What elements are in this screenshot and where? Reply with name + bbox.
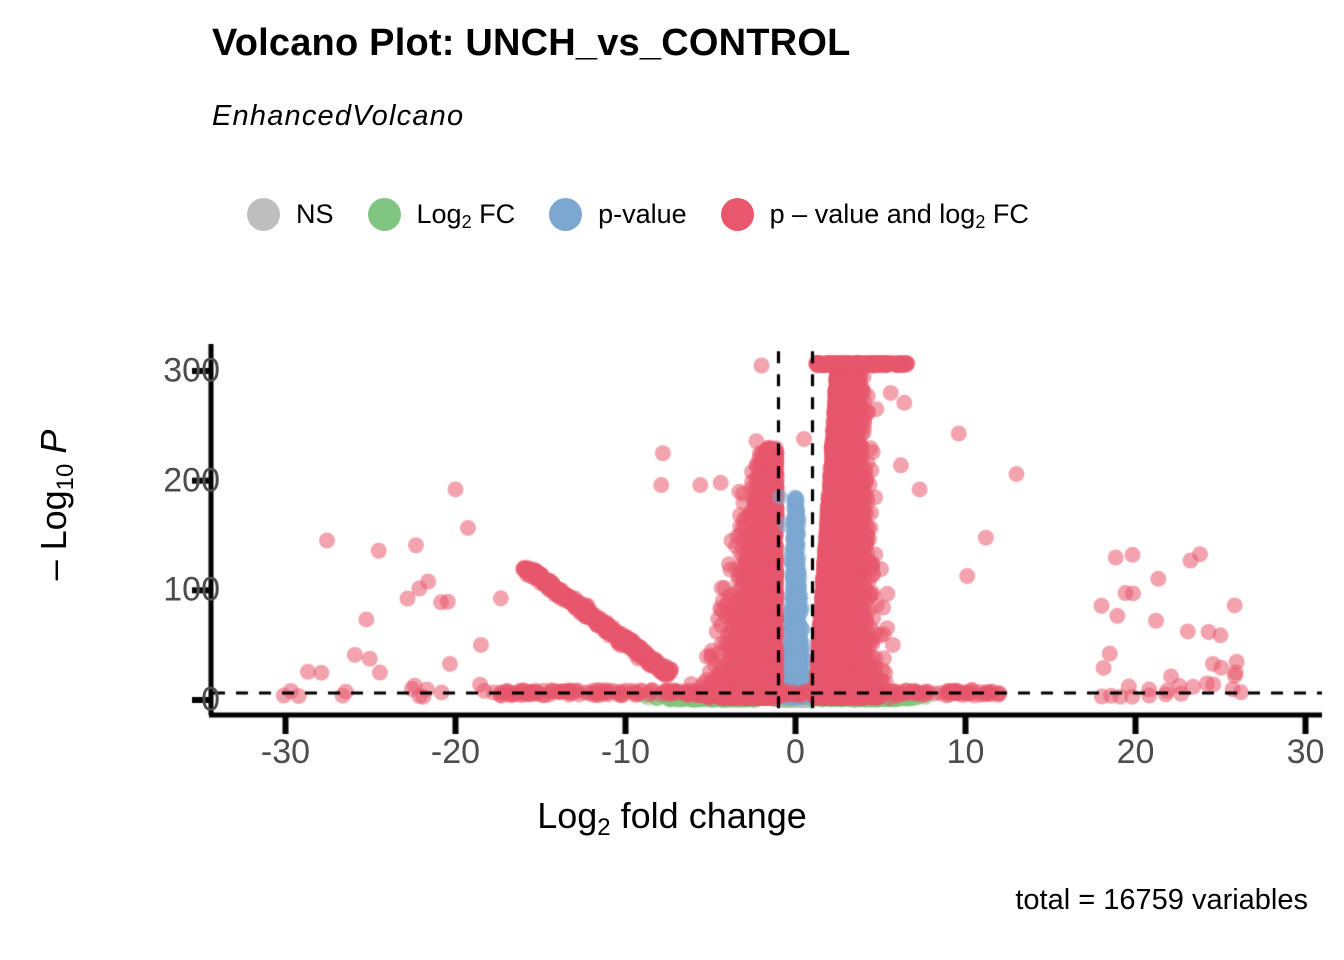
x-tick-label: 30 — [1287, 733, 1325, 772]
total-variables-caption: total = 16759 variables — [1015, 884, 1308, 917]
x-tick-label: -10 — [601, 733, 650, 772]
x-axis-label: Log2 fold change — [0, 795, 1344, 837]
y-tick-label: 0 — [201, 681, 220, 720]
x-tick-label: -20 — [431, 733, 480, 772]
volcano-plot-figure: Volcano Plot: UNCH_vs_CONTROL EnhancedVo… — [0, 0, 1344, 960]
y-tick-label: 200 — [163, 461, 220, 500]
y-tick-label: 300 — [163, 351, 220, 390]
x-tick-label: 20 — [1117, 733, 1155, 772]
x-tick-label: 0 — [786, 733, 805, 772]
x-tick-label: -30 — [261, 733, 310, 772]
y-axis-label: – Log10 P — [33, 305, 75, 705]
x-tick-label: 10 — [947, 733, 985, 772]
y-tick-label: 100 — [163, 571, 220, 610]
